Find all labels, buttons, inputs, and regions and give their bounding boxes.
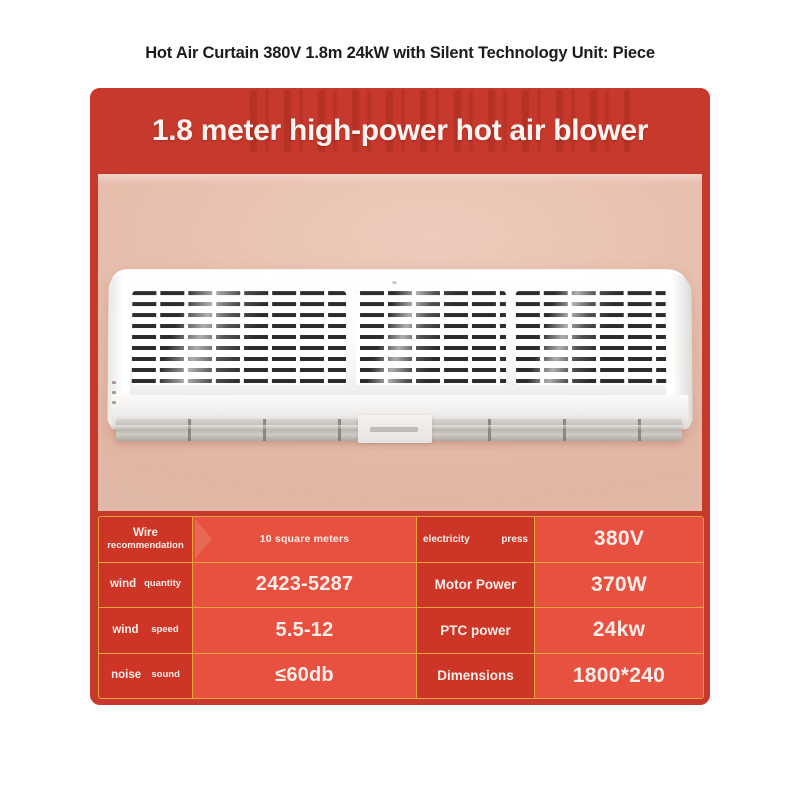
spec-label-line1: wind	[112, 624, 138, 637]
spec-label-dimensions: Dimensions	[417, 654, 535, 699]
spec-label-motor-power: Motor Power	[417, 563, 535, 608]
spec-label-wire: Wire recommendation	[99, 517, 193, 562]
table-row: wind quantity 2423-5287 Motor Power 370W	[99, 563, 703, 609]
spec-value-wind-speed: 5.5-12	[193, 608, 417, 653]
air-curtain-unit	[110, 269, 690, 454]
spec-label-ptc-power: PTC power	[417, 608, 535, 653]
spec-label-voltage-a: electricity	[423, 534, 470, 545]
spec-label-line2: speed	[151, 625, 178, 636]
chevron-right-icon	[193, 521, 194, 557]
spec-label-voltage-b: press	[501, 534, 528, 545]
spec-value-wire-text: 10 square meters	[260, 533, 350, 545]
unit-grille-right	[516, 291, 668, 385]
spec-value-motor-power: 370W	[535, 563, 703, 608]
spec-label-wind-speed: wind speed	[99, 608, 193, 653]
unit-body	[109, 269, 690, 429]
spec-label-air-volume: wind quantity	[99, 563, 193, 608]
product-card: 1.8 meter high-power hot air blower	[90, 88, 710, 705]
spec-value-dimensions: 1800*240	[535, 654, 703, 699]
spec-label-line1: wind	[110, 578, 136, 591]
spec-label-line2: sound	[151, 670, 180, 681]
spec-label-line1: Wire	[133, 527, 158, 540]
spec-label-line2: recommendation	[107, 541, 184, 552]
unit-grille-left	[132, 291, 346, 385]
chevron-right-icon-secondary	[195, 519, 212, 559]
spec-label-noise: noise sound	[99, 654, 193, 699]
unit-grille-center	[356, 291, 506, 385]
unit-brand-mark-icon	[370, 427, 418, 432]
product-photo	[98, 174, 702, 511]
unit-brand-badge	[358, 415, 432, 443]
spec-value-wire: 10 square meters	[193, 517, 417, 562]
spec-value-air-volume: 2423-5287	[193, 563, 417, 608]
table-row: noise sound ≤60db Dimensions 1800*240	[99, 654, 703, 699]
spec-label-line2: quantity	[144, 579, 181, 590]
banner-headline: 1.8 meter high-power hot air blower	[90, 88, 710, 174]
card-banner: 1.8 meter high-power hot air blower	[90, 88, 710, 174]
spec-label-line1: noise	[111, 669, 141, 682]
spec-label-voltage: electricity press	[417, 517, 535, 562]
photo-top-fade	[98, 174, 702, 184]
unit-top-highlight	[116, 272, 683, 286]
spec-value-noise: ≤60db	[193, 654, 417, 699]
page-title: Hot Air Curtain 380V 1.8m 24kW with Sile…	[0, 44, 800, 63]
wall-mount-marks-icon	[112, 381, 118, 407]
specification-table: Wire recommendation 10 square meters ele…	[98, 516, 704, 699]
table-row: wind speed 5.5-12 PTC power 24kw	[99, 608, 703, 654]
spec-value-ptc-power: 24kw	[535, 608, 703, 653]
spec-value-voltage: 380V	[535, 517, 703, 562]
product-detail-page: Hot Air Curtain 380V 1.8m 24kW with Sile…	[0, 0, 800, 800]
unit-indicator-dot-icon	[392, 281, 397, 284]
table-row: Wire recommendation 10 square meters ele…	[99, 517, 703, 563]
